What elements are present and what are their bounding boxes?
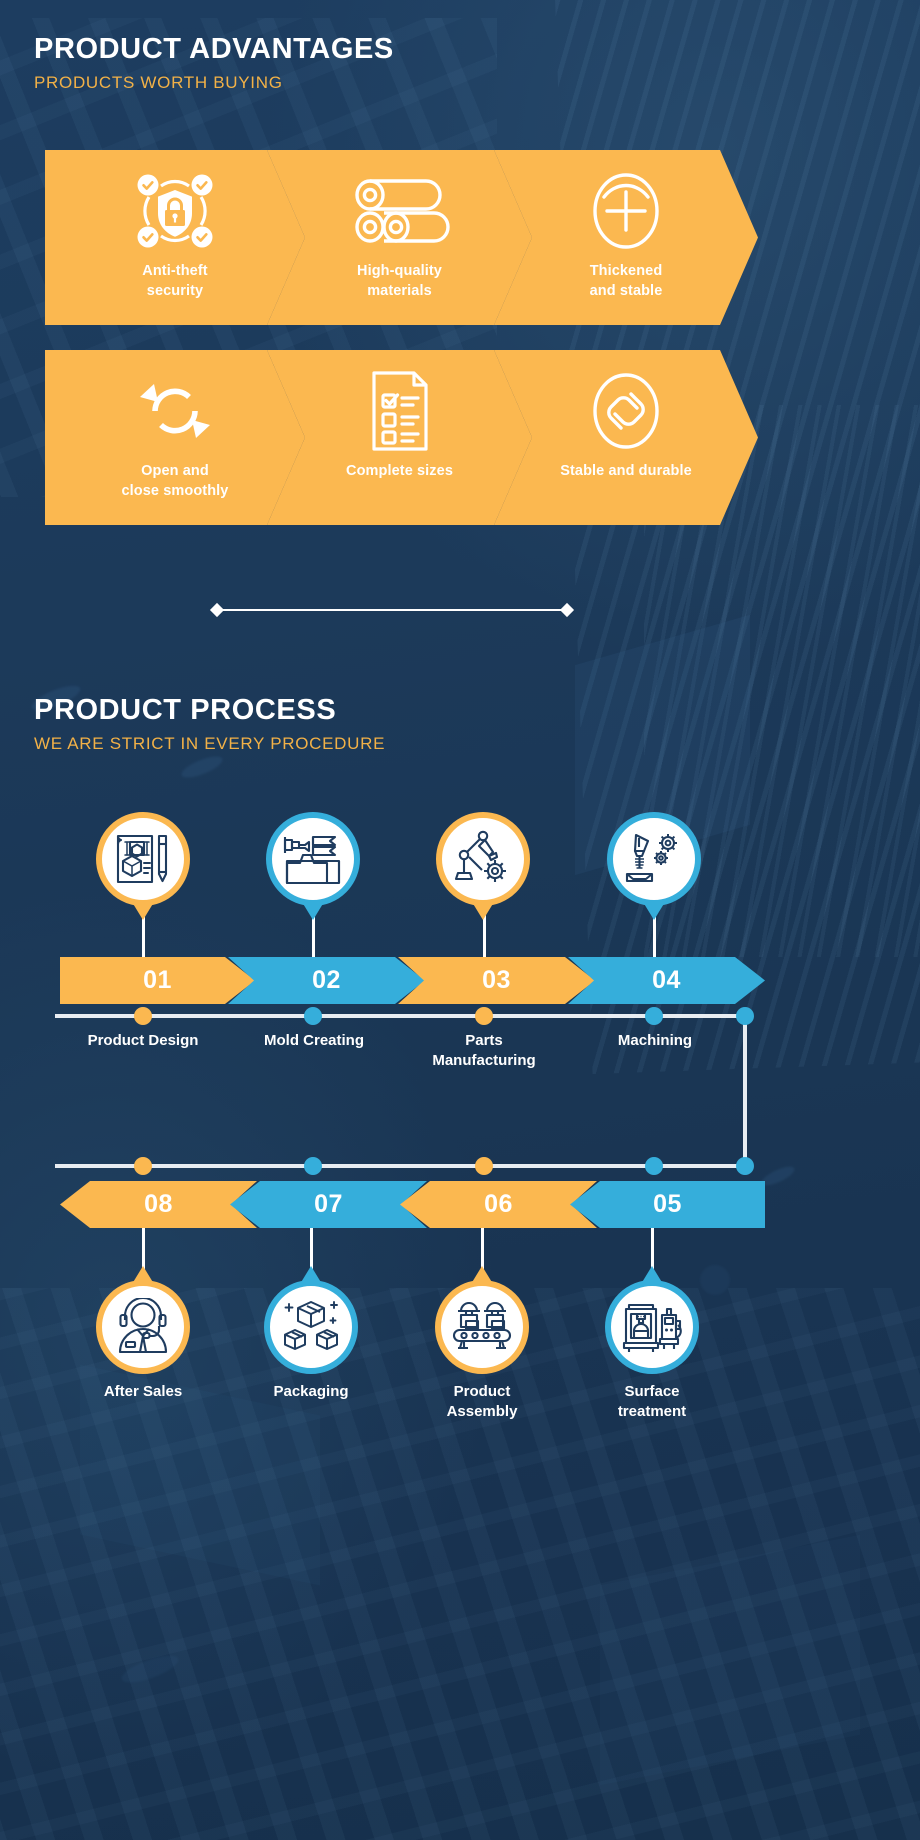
process-label-07: Packaging [221, 1382, 401, 1402]
process-chevron-row-1: 01 02 03 04 [0, 957, 920, 1004]
blueprint-design-pencil-icon [112, 830, 174, 888]
mold-press-machine-icon [281, 831, 345, 887]
bubble-tail [300, 1266, 322, 1284]
process-chevron-05[interactable]: 05 [570, 1181, 765, 1228]
process-chevron-07[interactable]: 07 [230, 1181, 427, 1228]
packaging-boxes-sparkle-icon [280, 1298, 342, 1356]
bubble-tail [302, 902, 324, 920]
process-bubble-07[interactable] [264, 1280, 358, 1374]
process-label-06: Product Assembly [392, 1382, 572, 1421]
process-label-04: Machining [565, 1031, 745, 1051]
process-label-01: Product Design [53, 1031, 233, 1051]
process-label-05: Surface treatment [562, 1382, 742, 1421]
process-bubble-03[interactable] [436, 812, 530, 906]
bubble-tail [132, 902, 154, 920]
process-node-07 [304, 1157, 322, 1175]
process-node-08 [134, 1157, 152, 1175]
assembly-line-workers-icon [450, 1299, 514, 1355]
process-chevron-01[interactable]: 01 [60, 957, 255, 1004]
process-node-03 [475, 1007, 493, 1025]
process-track-1 [55, 1014, 745, 1018]
process-chevron-03[interactable]: 03 [398, 957, 595, 1004]
process-label-02: Mold Creating [224, 1031, 404, 1051]
process-bubble-08[interactable] [96, 1280, 190, 1374]
process-chevron-06[interactable]: 06 [400, 1181, 597, 1228]
process-chevron-row-2: 08 07 06 05 [0, 1181, 920, 1228]
process-node-06 [475, 1157, 493, 1175]
cnc-cutting-gears-icon [623, 830, 685, 888]
process-chevron-08[interactable]: 08 [60, 1181, 257, 1228]
process-chevron-04[interactable]: 04 [568, 957, 765, 1004]
background-blob [700, 1265, 730, 1295]
headset-support-agent-icon [112, 1298, 174, 1356]
robot-arm-gear-icon [452, 830, 514, 888]
process-node-02 [304, 1007, 322, 1025]
process-bubble-02[interactable] [266, 812, 360, 906]
process-track-2 [55, 1164, 745, 1168]
process-bubble-05[interactable] [605, 1280, 699, 1374]
process-chevron-02[interactable]: 02 [228, 957, 425, 1004]
process-node-04 [645, 1007, 663, 1025]
process-node-01 [134, 1007, 152, 1025]
bubble-tail [643, 902, 665, 920]
bubble-tail [472, 902, 494, 920]
process-row-2: 08 07 06 05 [0, 0, 920, 740]
process-label-08: After Sales [53, 1382, 233, 1402]
coating-machine-icon [620, 1299, 684, 1355]
process-label-03: Parts Manufacturing [394, 1031, 574, 1070]
process-bubble-04[interactable] [607, 812, 701, 906]
process-node-05 [645, 1157, 663, 1175]
bubble-tail [641, 1266, 663, 1284]
process-bubble-01[interactable] [96, 812, 190, 906]
process-bubble-06[interactable] [435, 1280, 529, 1374]
process-node-corner-right-2 [736, 1157, 754, 1175]
bubble-tail [132, 1266, 154, 1284]
bubble-tail [471, 1266, 493, 1284]
process-node-corner-right [736, 1007, 754, 1025]
